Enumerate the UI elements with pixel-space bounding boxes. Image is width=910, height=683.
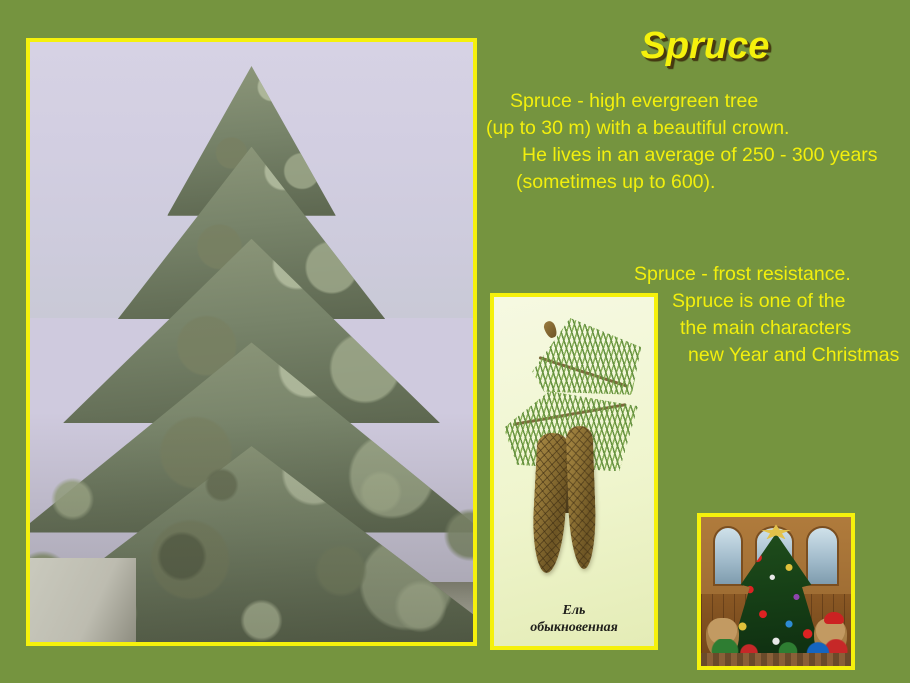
plate-caption-line-1: Ель	[494, 602, 654, 619]
intro-paragraph: Spruce - high evergreen tree (up to 30 m…	[486, 88, 910, 196]
intro-line-2: (up to 30 m) with a beautiful crown.	[486, 115, 910, 142]
floor-region	[701, 653, 851, 666]
holiday-line-1: Spruce - frost resistance.	[600, 261, 910, 288]
spruce-tree-shape	[26, 66, 477, 642]
christmas-photo	[697, 513, 855, 670]
intro-line-3: He lives in an average of 250 - 300 year…	[486, 142, 910, 169]
window-right	[806, 526, 839, 586]
spruce-photo	[26, 38, 477, 646]
plate-caption: Ель обыкновенная	[494, 602, 654, 636]
santa-hat	[824, 612, 844, 624]
botanical-plate: Ель обыкновенная	[490, 293, 658, 650]
plate-caption-line-2: обыкновенная	[494, 619, 654, 636]
slide-canvas: Spruce Spruce - high evergreen tree (up …	[0, 0, 910, 683]
intro-line-4: (sometimes up to 600).	[486, 169, 910, 196]
window-left	[713, 526, 743, 586]
path-region	[30, 558, 136, 642]
intro-line-1: Spruce - high evergreen tree	[486, 88, 910, 115]
page-title: Spruce	[500, 26, 910, 68]
